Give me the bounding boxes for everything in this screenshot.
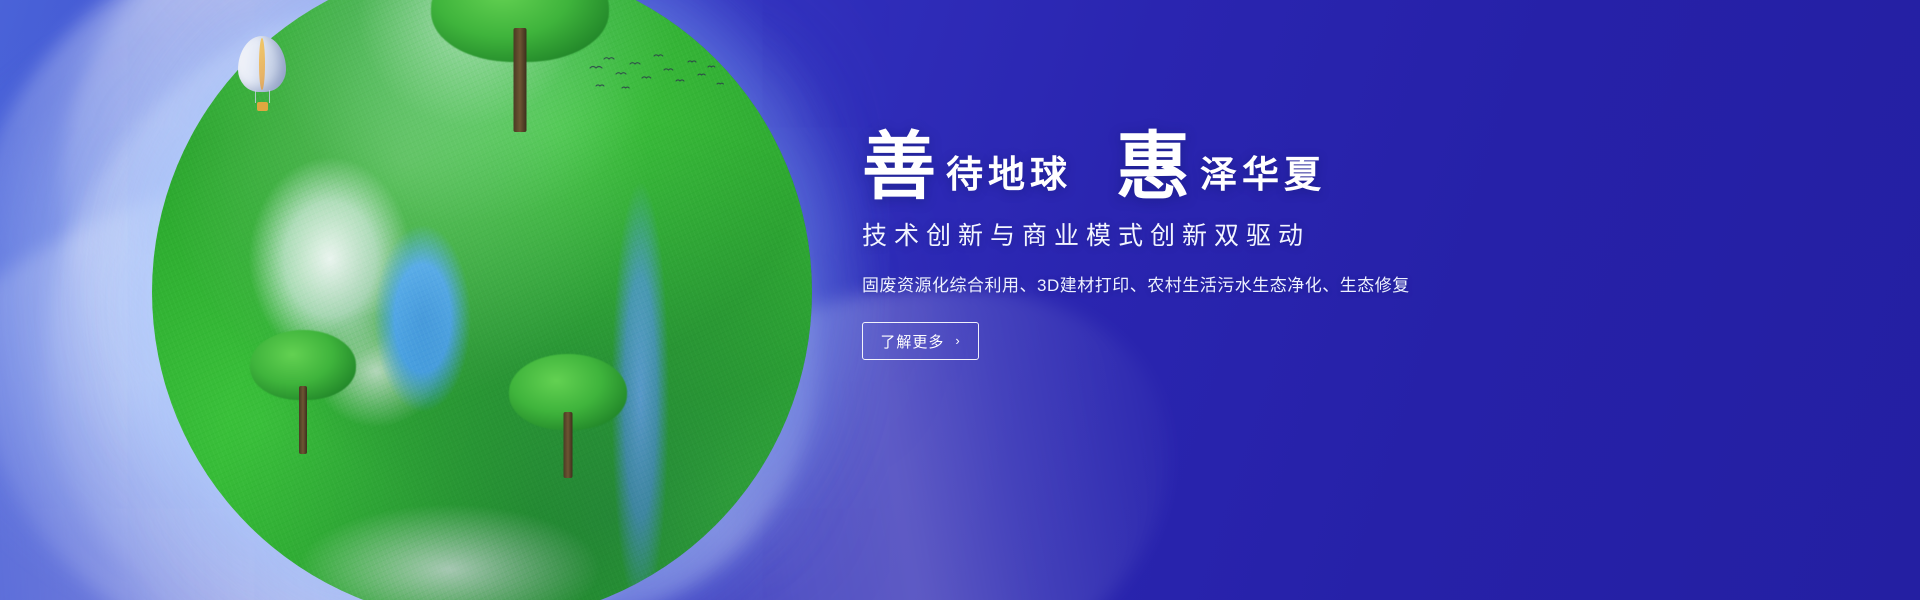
birds-icon — [586, 50, 726, 96]
hero-copy: 善 待地球 惠 泽华夏 技术创新与商业模式创新双驱动 固废资源化综合利用、3D建… — [862, 126, 1562, 360]
tree-icon — [508, 354, 628, 474]
chevron-right-icon: › — [955, 334, 960, 347]
hero-banner: 善 待地球 惠 泽华夏 技术创新与商业模式创新双驱动 固废资源化综合利用、3D建… — [0, 0, 1920, 600]
headline-group-2: 惠 泽华夏 — [1116, 126, 1326, 200]
sky-veil — [0, 0, 960, 600]
headline-primary-char-1: 善 — [862, 130, 936, 204]
headline-secondary-text-2: 泽华夏 — [1190, 156, 1326, 200]
tree-icon — [430, 0, 610, 124]
headline-secondary-text-1: 待地球 — [936, 156, 1072, 200]
globe-glow — [82, 0, 882, 600]
tree-icon — [248, 330, 358, 450]
cloud-band — [0, 0, 842, 600]
headline-group-1: 善 待地球 — [862, 126, 1072, 200]
hero-description: 固废资源化综合利用、3D建材打印、农村生活污水生态净化、生态修复 — [862, 271, 1562, 296]
headline-primary-char-2: 惠 — [1116, 130, 1190, 204]
earth-globe-image — [152, 0, 812, 600]
learn-more-label: 了解更多 — [880, 331, 944, 352]
hero-subheadline: 技术创新与商业模式创新双驱动 — [862, 216, 1562, 252]
page-title: 善 待地球 惠 泽华夏 — [862, 126, 1562, 200]
cloud-band — [0, 0, 869, 600]
globe-sphere — [152, 0, 812, 600]
globe-shading — [152, 0, 812, 600]
hot-air-balloon-icon — [238, 36, 286, 114]
cloud-band — [0, 0, 960, 600]
learn-more-button[interactable]: 了解更多 › — [862, 322, 979, 360]
cloud-band — [0, 89, 721, 600]
